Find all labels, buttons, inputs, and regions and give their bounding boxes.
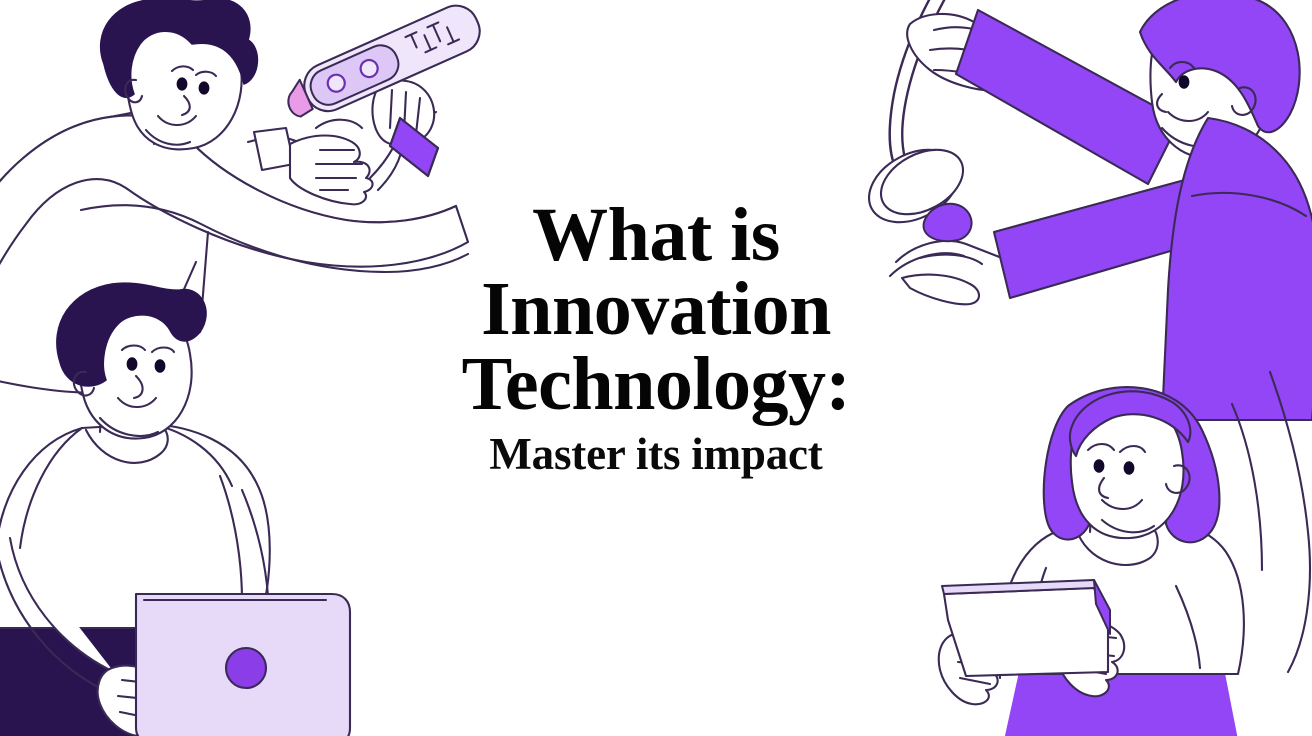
title-block: What is Innovation Technology: Master it… [376,198,936,479]
illustration-person-holding-laptop [0,276,404,736]
page-subtitle: Master its impact [376,431,936,478]
illustration-person-holding-tablet [926,372,1312,736]
poster-canvas: What is Innovation Technology: Master it… [0,0,1312,736]
page-title: What is Innovation Technology: [376,198,936,421]
